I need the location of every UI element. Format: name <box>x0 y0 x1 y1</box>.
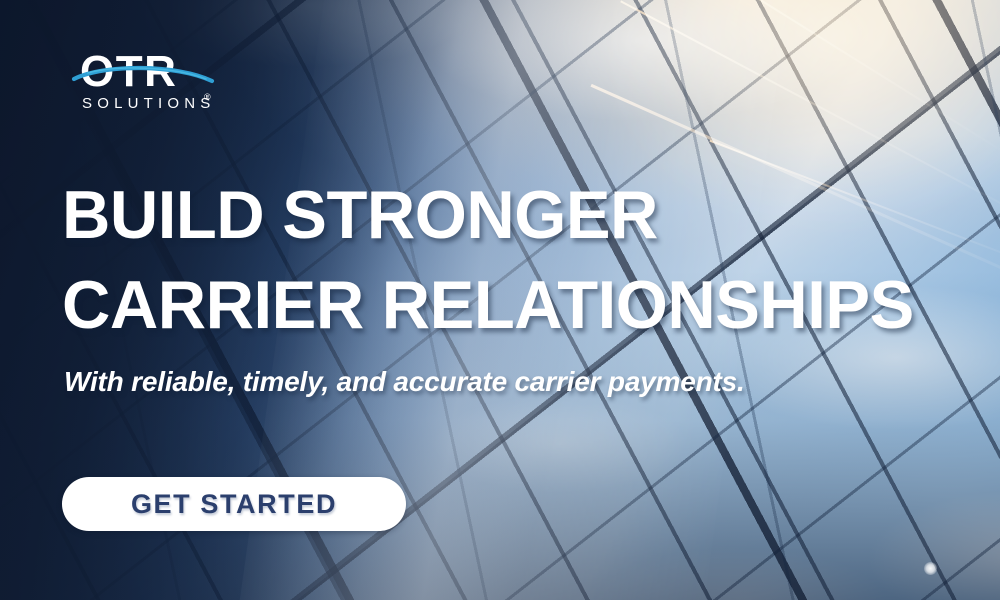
hero-subtitle: With reliable, timely, and accurate carr… <box>64 366 964 398</box>
logo-trademark-mark: ® <box>204 92 211 102</box>
hero-headline: BUILD STRONGER CARRIER RELATIONSHIPS <box>62 170 962 351</box>
banner-content: OTR SOLUTIONS ® BUILD STRONGER CARRIER R… <box>0 0 1000 600</box>
headline-line-2: CARRIER RELATIONSHIPS <box>62 260 949 350</box>
promotional-banner: OTR SOLUTIONS ® BUILD STRONGER CARRIER R… <box>0 0 1000 600</box>
logo-subtext: SOLUTIONS <box>82 95 215 112</box>
get-started-button-label: GET STARTED <box>131 489 337 520</box>
get-started-button[interactable]: GET STARTED <box>62 477 406 531</box>
headline-line-1: BUILD STRONGER <box>62 170 949 260</box>
otr-solutions-logo[interactable]: OTR SOLUTIONS ® <box>80 48 250 118</box>
